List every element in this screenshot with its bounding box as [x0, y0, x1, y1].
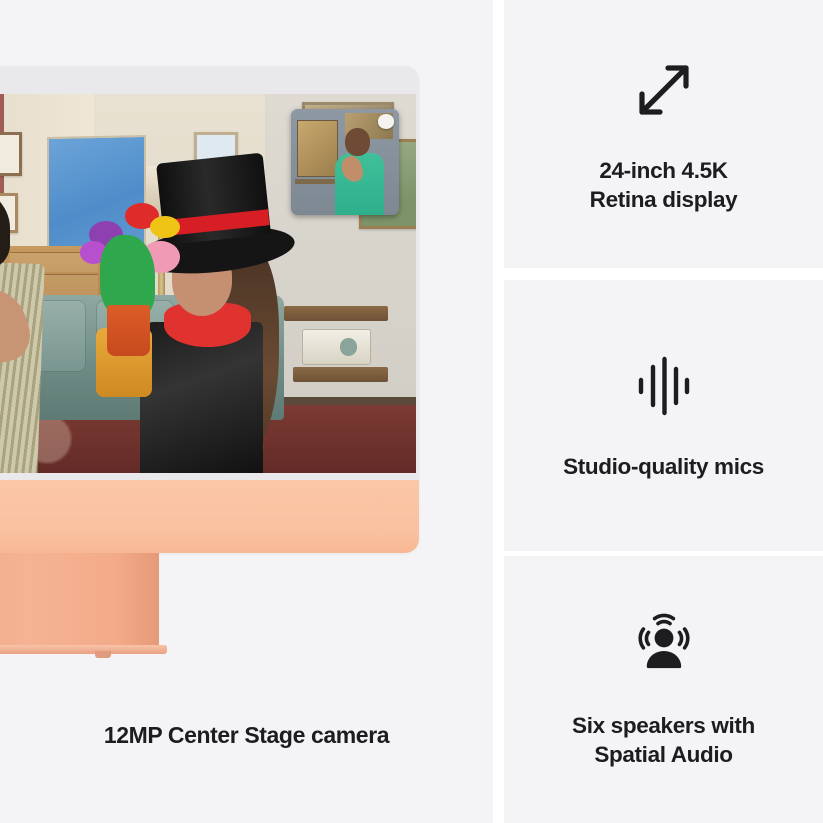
feature-card-mics-label: Studio-quality mics — [553, 453, 774, 482]
camera-feature-panel: 12MP Center Stage camera — [0, 0, 493, 823]
facetime-call-scene — [0, 94, 416, 473]
imac-body — [0, 66, 419, 553]
imac-stand-neck — [0, 553, 159, 647]
picture-in-picture-window[interactable] — [291, 109, 400, 215]
feature-card-speakers: Six speakers with Spatial Audio — [504, 556, 823, 823]
feature-card-display: 24-inch 4.5K Retina display — [504, 0, 823, 268]
craft-flower-pot — [71, 200, 185, 359]
picture-frame — [0, 132, 22, 176]
feature-card-speakers-label: Six speakers with Spatial Audio — [562, 712, 765, 770]
imac-display-screen — [0, 94, 416, 473]
imac-orange-chin — [0, 480, 419, 553]
imac-product-image — [0, 66, 419, 553]
audio-waveform-icon — [628, 350, 700, 427]
imac-stand-foot — [95, 651, 111, 658]
diagonal-expand-arrows-icon — [628, 54, 700, 131]
imac-stand-base — [0, 645, 167, 654]
product-feature-grid: 12MP Center Stage camera 24-inch 4.5K Re… — [0, 0, 823, 823]
spatial-audio-person-icon — [628, 609, 700, 686]
camera-feature-caption: 12MP Center Stage camera — [0, 722, 493, 749]
feature-card-mics: Studio-quality mics — [504, 280, 823, 551]
feature-card-display-label: 24-inch 4.5K Retina display — [580, 157, 748, 215]
pip-control-button[interactable] — [378, 114, 394, 128]
